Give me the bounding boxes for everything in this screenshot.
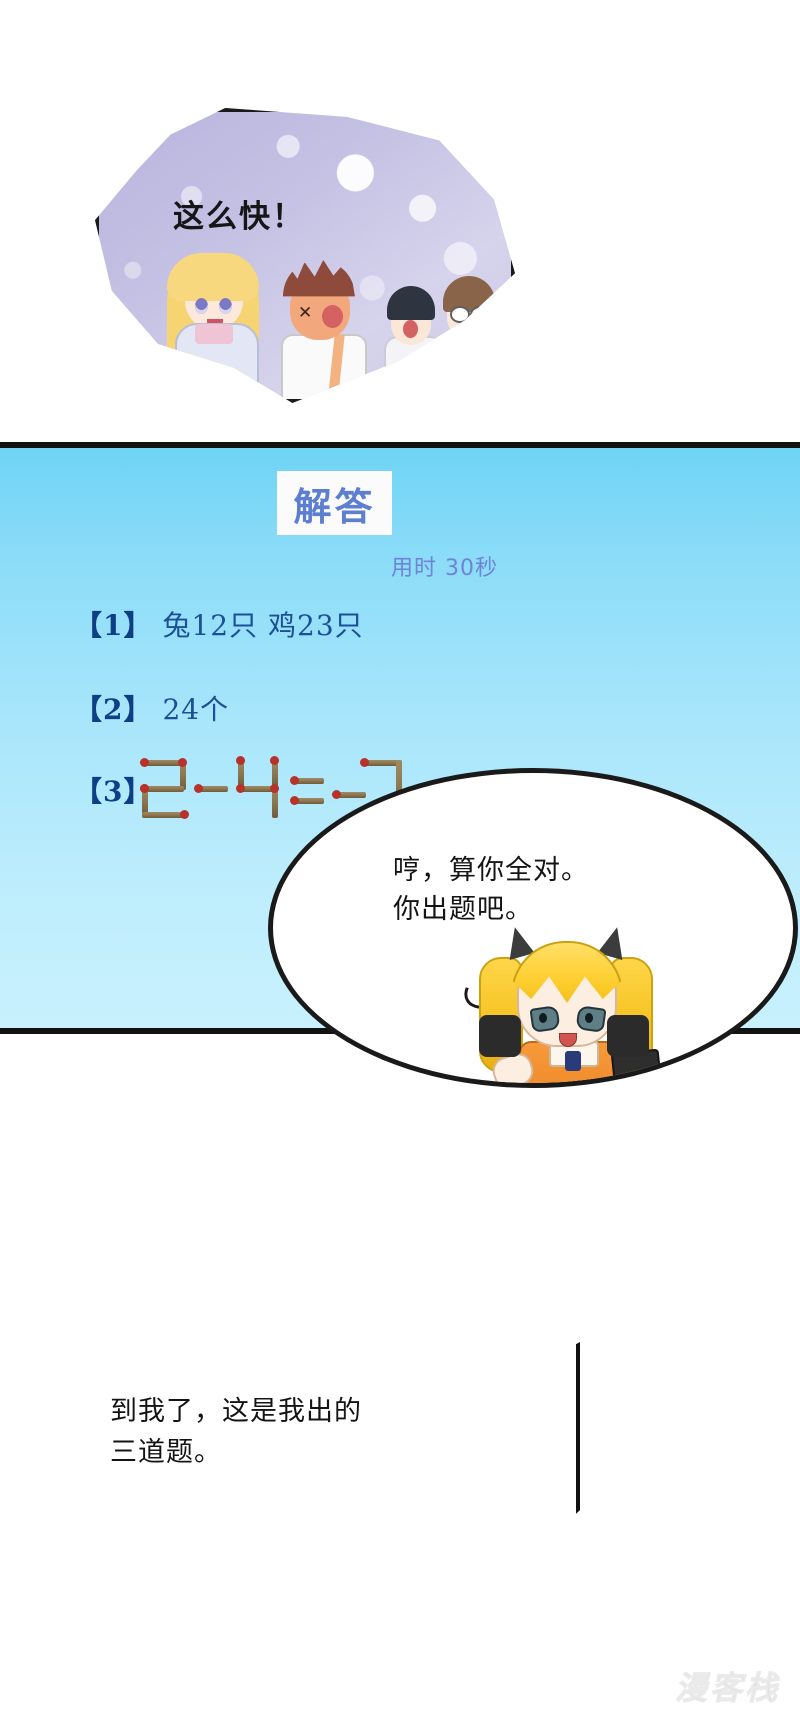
red-haired-boy-x-eye: ✕ [298,306,312,320]
red-haired-boy-body [281,334,367,410]
blonde-girl-eye-right [219,298,232,314]
black-haired-boy-body [384,336,444,410]
time-used-label: 用时 30秒 [391,550,498,582]
match-head [270,756,279,765]
match-head [332,790,341,799]
answer-text-2: 24个 [162,693,229,726]
match-head [180,810,189,819]
speech-bubble-jagged: 到我了，这是我出的 三道题。 [0,1222,580,1622]
purple-panel-fill: ✕ 这么快！ [95,108,515,403]
match-head [178,758,187,767]
comic-page: ✕ 这么快！ [0,0,800,1727]
match-head [360,758,369,767]
twin-tail-girl-avatar [473,923,683,1088]
match-head [290,776,299,785]
red-haired-boy-mouth [322,305,343,328]
jagged-bubble-text: 到我了，这是我出的 三道题。 [110,1392,362,1473]
glasses-boy-body [439,332,503,408]
blonde-girl-hair-front [167,253,259,301]
glasses-boy-mouth [461,320,475,336]
black-haired-boy-mouth [403,320,418,338]
answer-tag-1: 【1】 [74,609,152,642]
match-head [140,758,149,767]
purple-jagged-panel-shape: ✕ 这么快！ [95,108,515,403]
twin-tail-girl-pupil-right [585,1013,593,1023]
answer-row-1: 【1】兔12只 鸡23只 [74,604,364,644]
twin-tail-girl-ribbon [565,1051,581,1071]
glasses-boy-hair [443,276,495,312]
glasses-boy-lens-left [450,306,470,323]
answer-row-2: 【2】24个 [74,688,229,728]
answer-badge: 解答 [277,471,392,535]
answer-tag-2: 【2】 [74,693,152,726]
match-head [140,784,149,793]
glasses-boy-lens-right [470,306,490,323]
match-head [290,796,299,805]
match-head [194,784,203,793]
oval-bubble-line-1: 哼，算你全对。 [393,851,589,890]
match-head [236,784,245,793]
jagged-bubble-line-2: 三道题。 [110,1433,362,1474]
jagged-bubble-line-1: 到我了，这是我出的 [110,1392,362,1433]
answer-text-1: 兔12只 鸡23只 [162,609,363,642]
match-head [236,756,245,765]
panel-top-dialogue: 这么快！ [173,200,305,234]
blonde-girl-eye-left [195,298,208,314]
speech-bubble-oval: 哼，算你全对。 你出题吧。 [268,768,798,1088]
blonde-girl-collar [195,324,233,344]
answer-badge-label: 解答 [293,476,375,531]
oval-bubble-text: 哼，算你全对。 你出题吧。 [393,851,589,929]
twin-tail-band-right [607,1015,649,1057]
site-watermark: 漫客栈 [675,1663,780,1709]
black-haired-boy-hair [387,286,435,320]
panel-top-flashback: ✕ 这么快！ [0,0,800,440]
match-head [270,784,279,793]
twin-tail-band-left [479,1015,521,1057]
match-stick [142,812,184,818]
crowd-figures: ✕ [95,108,515,403]
twin-tail-girl-pupil-left [539,1013,547,1023]
